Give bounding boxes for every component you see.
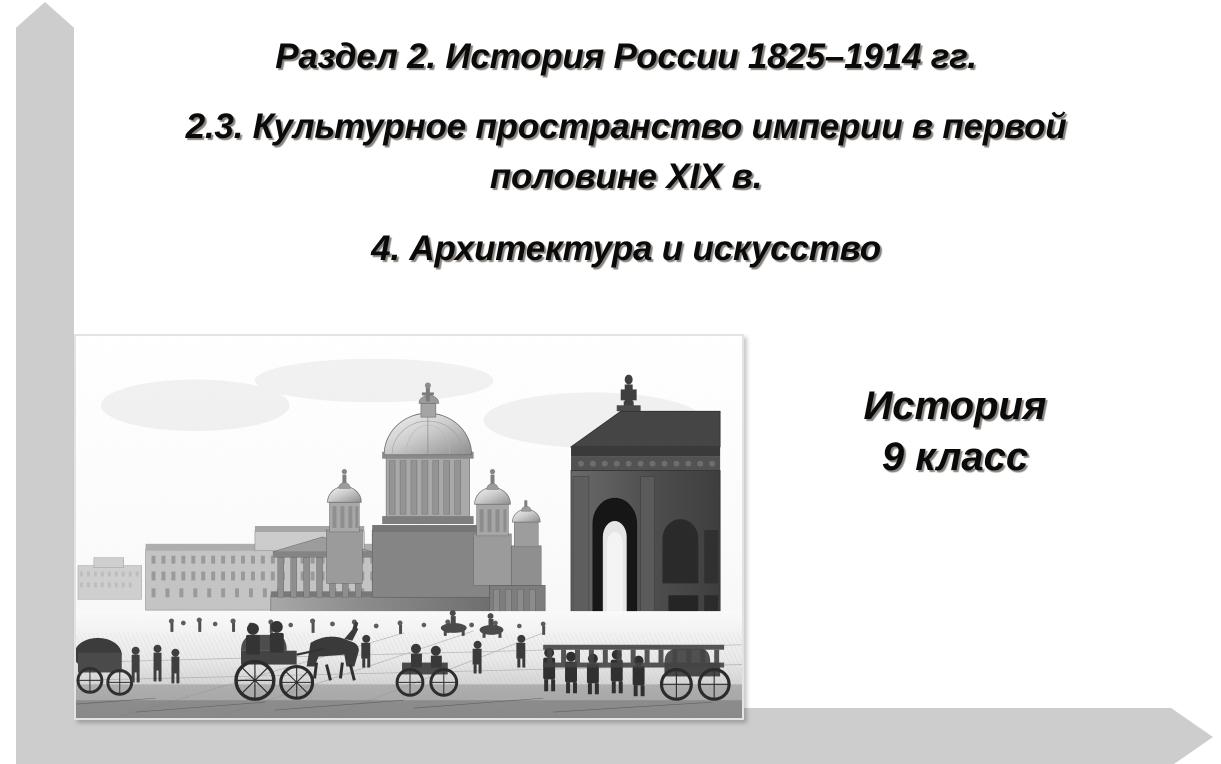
topic-title: 2.3. Культурное пространство империи в п… [96,80,1156,202]
course-subject: История [790,381,1120,432]
course-grade: 9 класс [790,432,1120,483]
subtopic-title: 4. Архитектура и искусство [96,202,1156,274]
illustration-frame [74,334,744,720]
presentation-slide: Раздел 2. История России 1825–1914 гг. 2… [0,0,1221,764]
vertical-arrow-shape [16,2,74,737]
slide-heading-block: Раздел 2. История России 1825–1914 гг. 2… [96,18,1156,274]
section-title: Раздел 2. История России 1825–1914 гг. [96,18,1156,80]
isaac-cathedral-engraving [76,336,742,718]
course-label: История 9 класс [790,381,1120,483]
